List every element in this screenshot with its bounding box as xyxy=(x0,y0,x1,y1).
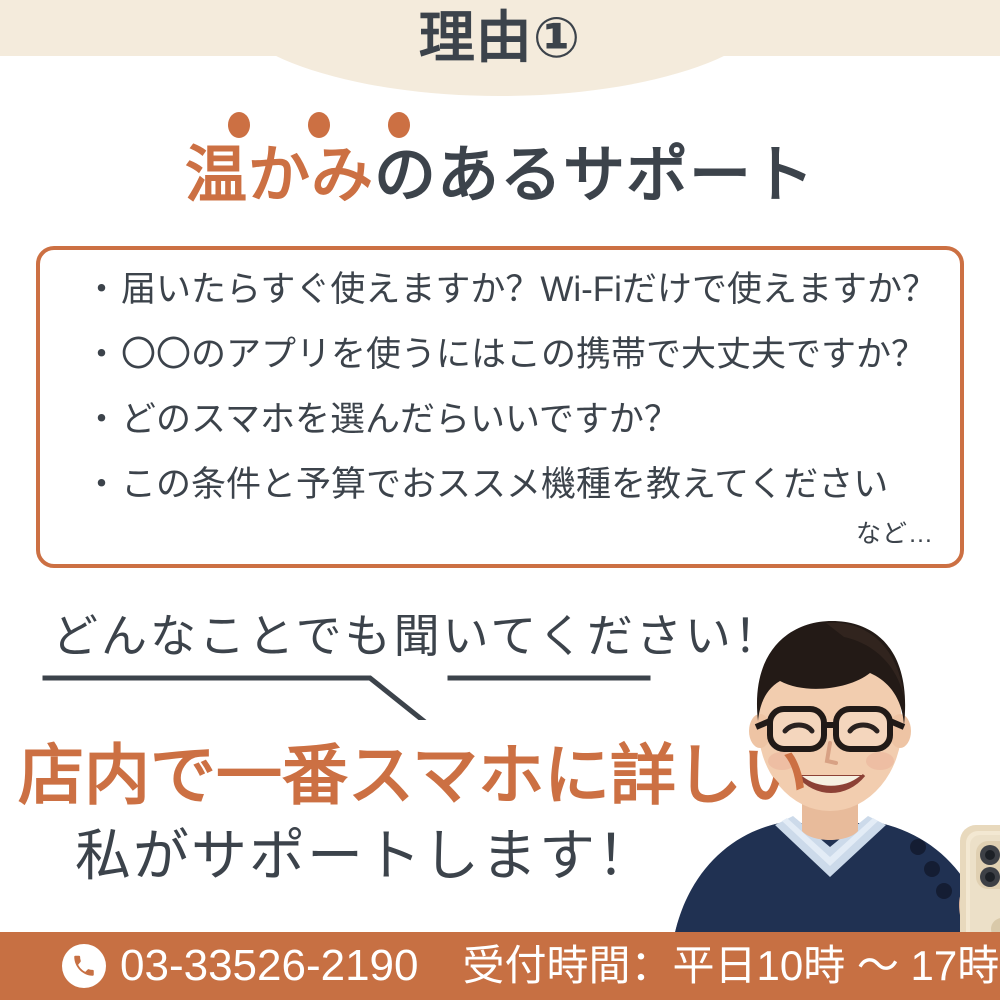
list-item-label: この条件と予算でおススメ機種を教えてください xyxy=(121,465,888,504)
headline-text: 店内で一番スマホに詳しい xyxy=(18,742,808,808)
footer-contact-bar: 03-33526-2190 受付時間：平日10時 〜 17時 xyxy=(0,932,1000,1000)
list-item: ・〇〇のアプリを使うにはこの携帯で大丈夫ですか？ xyxy=(84,337,940,372)
emphasis-dots xyxy=(228,112,410,138)
emphasis-dot-icon xyxy=(308,112,330,138)
business-hours-text: 受付時間：平日10時 〜 17時 xyxy=(462,945,999,987)
question-list: ・届いたらすぐ使えますか？Wi-Fiだけで使えますか？ ・〇〇のアプリを使うには… xyxy=(84,272,940,532)
reason-badge-label: 理由① xyxy=(0,10,1000,66)
phone-number-text[interactable]: 03-33526-2190 xyxy=(120,944,418,988)
list-item-label: 届いたらすぐ使えますか？Wi-Fiだけで使えますか？ xyxy=(121,270,937,309)
bullet-icon: ・ xyxy=(84,400,119,439)
bullet-icon: ・ xyxy=(84,335,119,374)
question-box: ・届いたらすぐ使えますか？Wi-Fiだけで使えますか？ ・〇〇のアプリを使うには… xyxy=(36,246,964,568)
page-title-rest: のあるサポート xyxy=(374,141,815,210)
page-title-highlight: 温かみ xyxy=(185,141,374,210)
phone-handset-icon xyxy=(62,944,106,988)
list-item-label: どのスマホを選んだらいいですか？ xyxy=(121,400,679,439)
page-title: 温かみのあるサポート xyxy=(0,143,1000,208)
emphasis-dot-icon xyxy=(388,112,410,138)
emphasis-dot-icon xyxy=(228,112,250,138)
bullet-icon: ・ xyxy=(84,465,119,504)
list-item: ・届いたらすぐ使えますか？Wi-Fiだけで使えますか？ xyxy=(84,272,940,307)
ask-anything-text: どんなことでも聞いてください！ xyxy=(52,600,783,666)
divider-arrow-graphic xyxy=(40,660,660,720)
subheadline-text: 私がサポートします！ xyxy=(0,828,730,884)
list-item: ・どのスマホを選んだらいいですか？ xyxy=(84,402,940,437)
etcetera-note: など… xyxy=(856,514,934,550)
bullet-icon: ・ xyxy=(84,270,119,309)
list-item: ・この条件と予算でおススメ機種を教えてください xyxy=(84,467,940,502)
list-item-label: 〇〇のアプリを使うにはこの携帯で大丈夫ですか？ xyxy=(121,335,926,374)
